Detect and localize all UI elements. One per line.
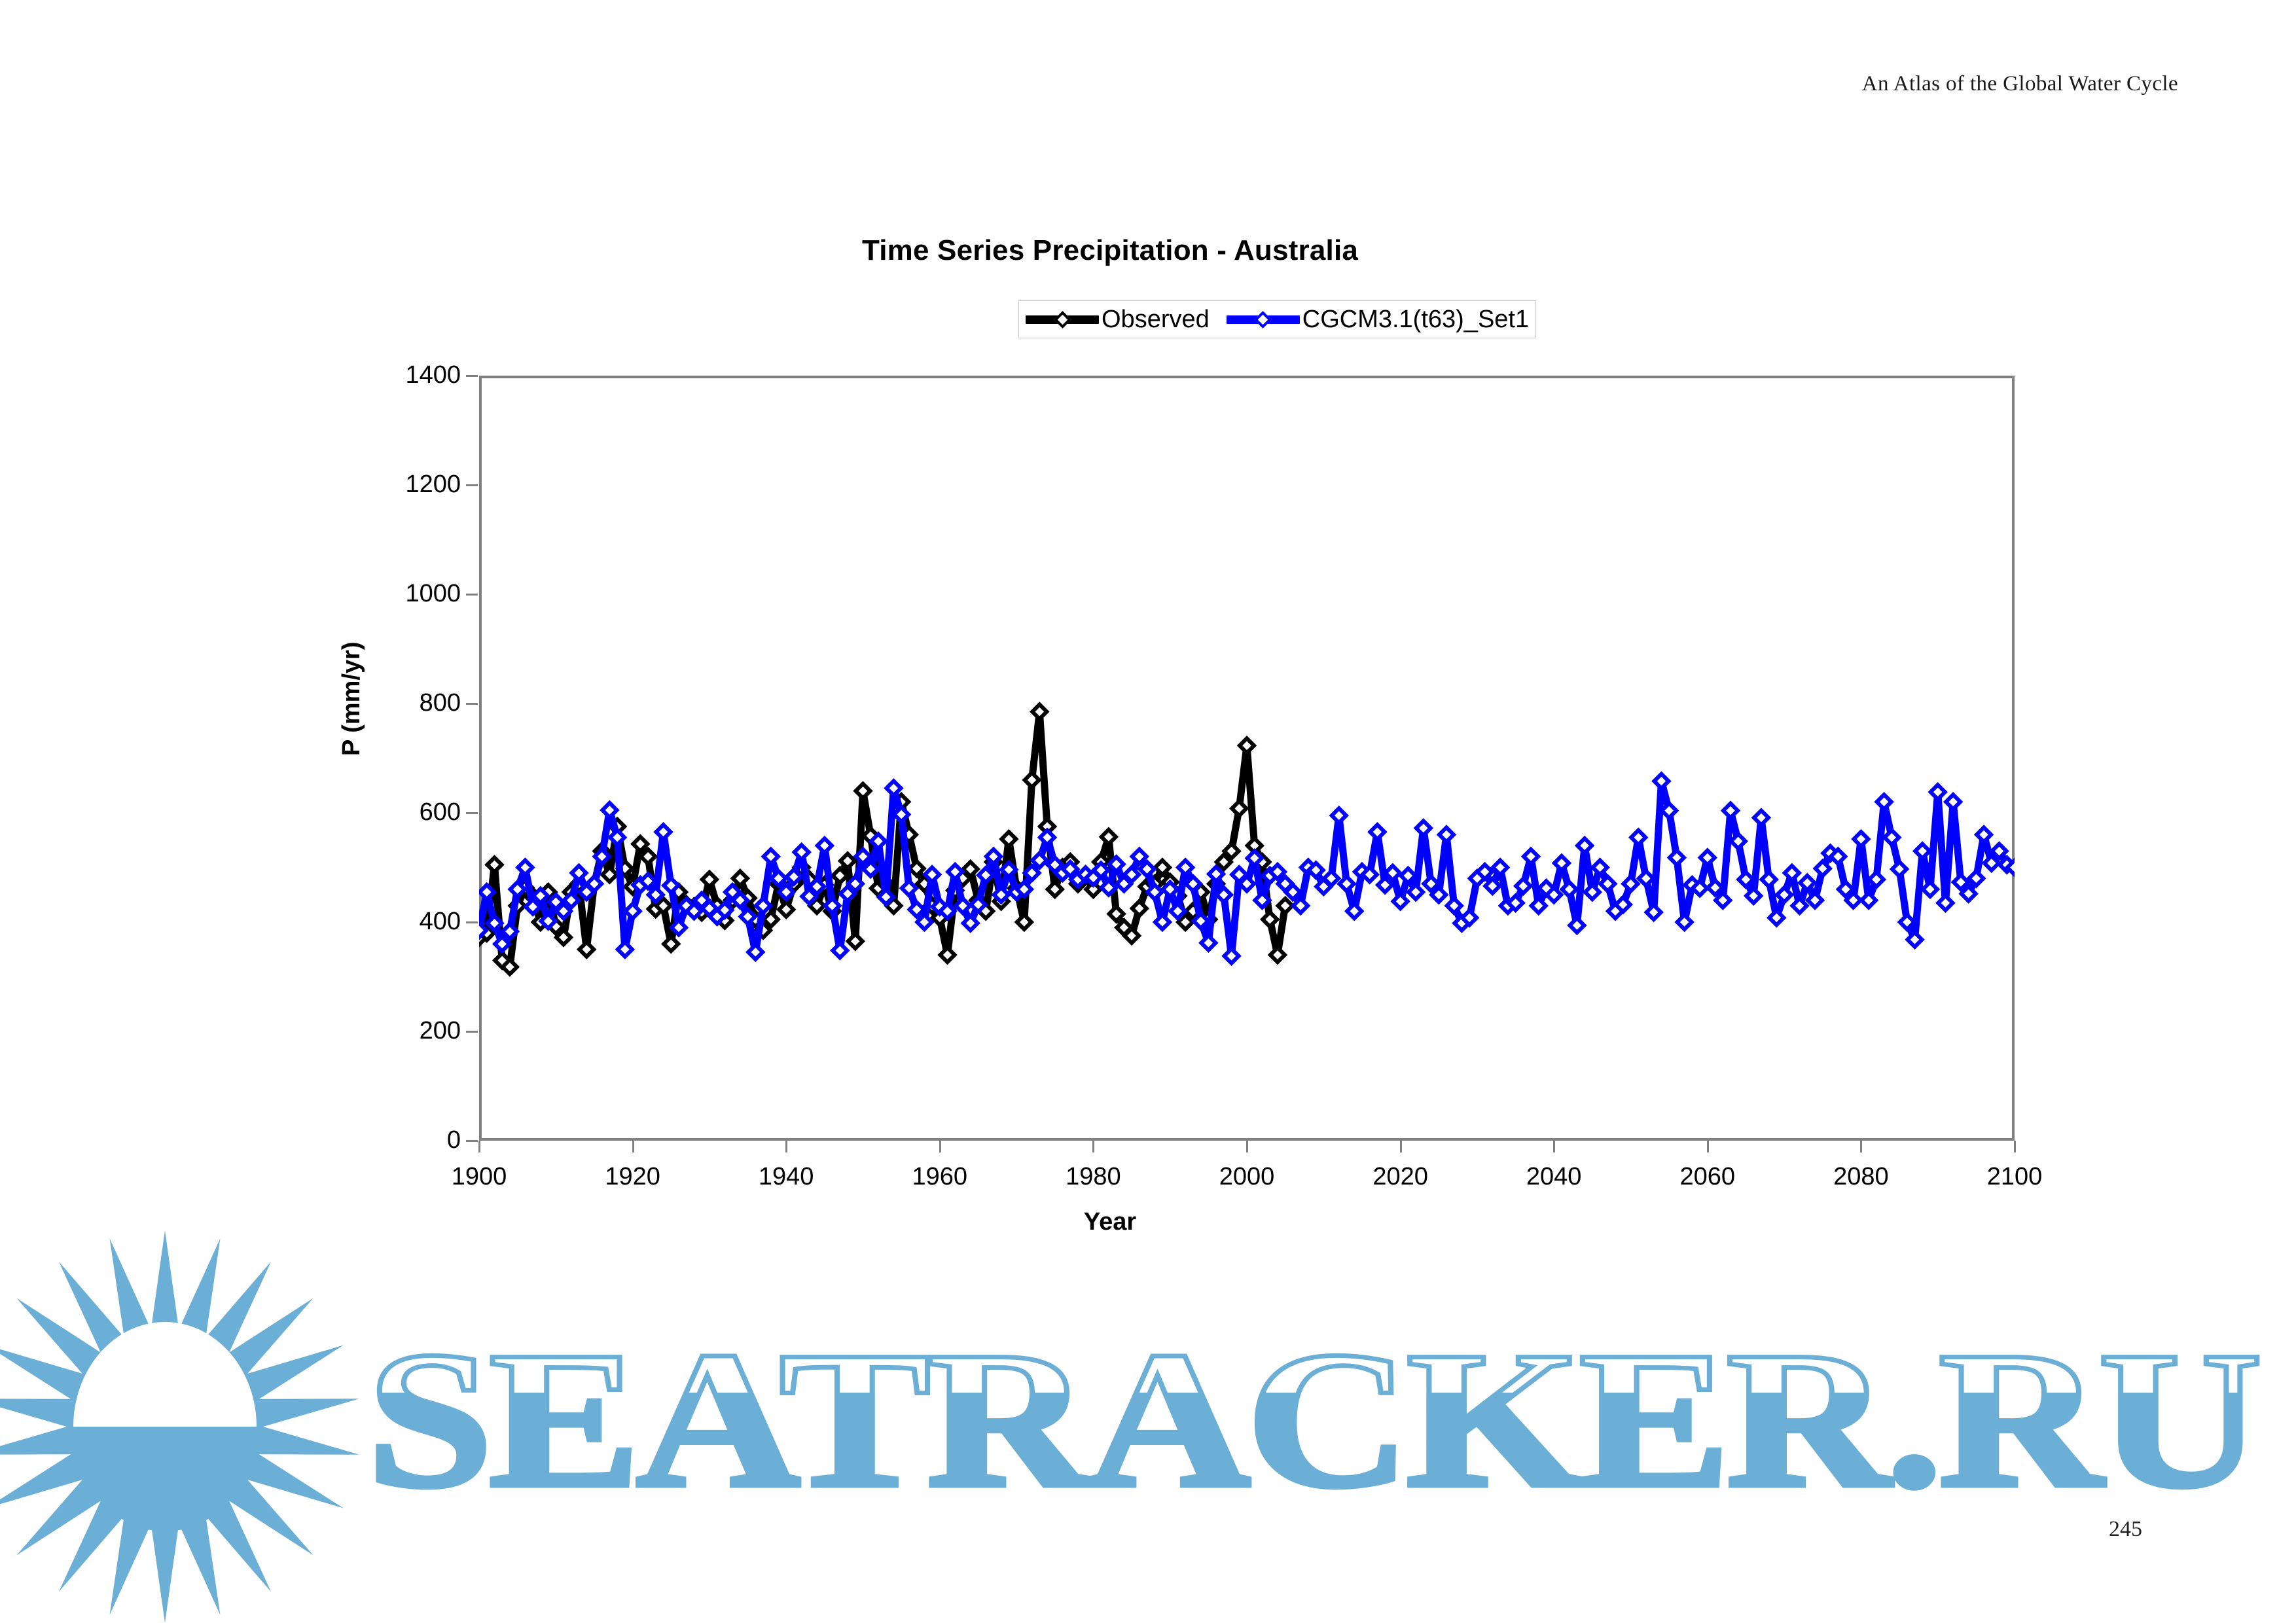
x-tick-label: 2060 (1642, 1164, 1773, 1189)
y-tick-mark (466, 921, 478, 923)
y-tick-mark (466, 594, 478, 596)
x-tick-mark (785, 1141, 787, 1152)
sun-disc (73, 1427, 257, 1531)
watermark-wordmark: SEATRACKER.RU (367, 1311, 2258, 1528)
y-tick-mark (466, 1140, 478, 1142)
legend-label-observed: Observed (1102, 307, 1210, 332)
x-tick-mark (1092, 1141, 1094, 1152)
watermark-svg: SEATRACKER.RUSEATRACKER.RU (0, 1230, 2296, 1623)
x-tick-label: 2100 (1949, 1164, 2080, 1189)
y-tick-label: 1400 (330, 363, 461, 387)
plot-area (479, 376, 2015, 1141)
y-tick-label: 1200 (330, 472, 461, 497)
figure-container: Time Series Precipitation - Australia Ob… (0, 0, 2296, 1243)
y-tick-mark (466, 703, 478, 705)
watermark-wordmark: SEATRACKER.RU (367, 1311, 2258, 1528)
legend-entry-observed: Observed (1026, 301, 1210, 338)
legend-label-model: CGCM3.1(t63)_Set1 (1302, 307, 1529, 332)
x-tick-label: 1980 (1028, 1164, 1158, 1189)
legend-swatch-observed (1026, 308, 1099, 330)
x-axis-title: Year (0, 1208, 2258, 1236)
plot-svg (479, 376, 2015, 1141)
y-tick-mark (466, 812, 478, 814)
y-tick-label: 200 (330, 1018, 461, 1043)
y-tick-label: 600 (330, 800, 461, 825)
sun-dome (73, 1322, 257, 1427)
chart-title: Time Series Precipitation - Australia (0, 234, 2258, 267)
series-model (479, 774, 2015, 963)
y-tick-mark (466, 484, 478, 486)
x-tick-label: 1940 (721, 1164, 852, 1189)
watermark-text: SEATRACKER.RUSEATRACKER.RU (367, 1311, 2258, 1528)
x-tick-mark (939, 1141, 941, 1152)
y-tick-mark (466, 1031, 478, 1033)
y-axis-title: P (mm/yr) (338, 641, 366, 756)
x-tick-mark (1553, 1141, 1555, 1152)
x-tick-mark (478, 1141, 480, 1152)
x-tick-label: 1920 (567, 1164, 698, 1189)
y-tick-mark (466, 375, 478, 377)
x-tick-mark (632, 1141, 634, 1152)
x-tick-label: 2040 (1488, 1164, 1619, 1189)
sun-rays (0, 1230, 359, 1623)
x-tick-mark (1400, 1141, 1402, 1152)
sun-starburst-icon (0, 1230, 359, 1623)
x-tick-mark (1707, 1141, 1709, 1152)
page-number: 245 (2109, 1517, 2142, 1542)
legend-swatch-model (1227, 308, 1300, 330)
y-tick-label: 1000 (330, 581, 461, 606)
x-tick-label: 2080 (1795, 1164, 1926, 1189)
x-tick-label: 1900 (414, 1164, 545, 1189)
legend-entry-model: CGCM3.1(t63)_Set1 (1227, 301, 1529, 338)
x-tick-label: 2020 (1335, 1164, 1466, 1189)
x-tick-mark (1860, 1141, 1862, 1152)
watermark: SEATRACKER.RUSEATRACKER.RU (0, 1230, 2296, 1623)
x-tick-label: 1960 (874, 1164, 1005, 1189)
chart-legend: Observed CGCM3.1(t63)_Set1 (1018, 300, 1536, 338)
x-tick-mark (1246, 1141, 1248, 1152)
y-tick-label: 400 (330, 909, 461, 934)
x-tick-label: 2000 (1181, 1164, 1312, 1189)
y-tick-label: 0 (330, 1128, 461, 1152)
x-tick-mark (2014, 1141, 2016, 1152)
